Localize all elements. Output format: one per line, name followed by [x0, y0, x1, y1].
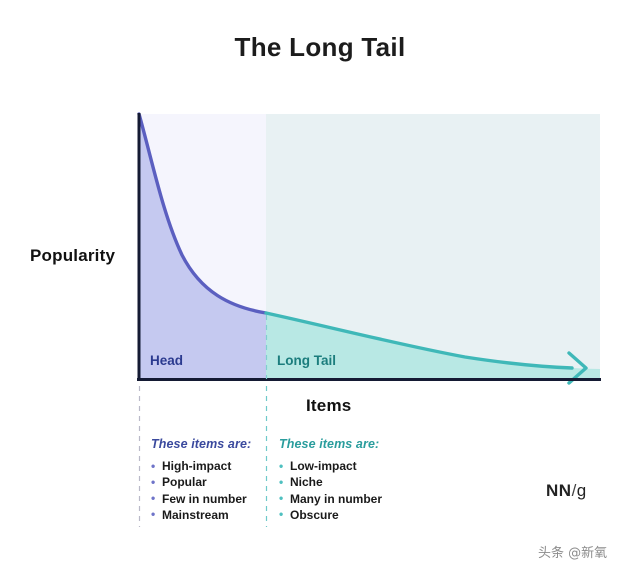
nng-logo: NN/g	[546, 481, 587, 501]
list-item: Mainstream	[151, 507, 266, 523]
legend-head-column: These items are: High-impact Popular Few…	[151, 437, 266, 523]
nng-logo-nn: NN	[546, 481, 572, 500]
legend-tail-heading: These items are:	[279, 437, 409, 451]
head-region-label: Head	[150, 353, 183, 368]
legend-head-list: High-impact Popular Few in number Mainst…	[151, 458, 266, 523]
chart-canvas: The Long Tail Popularity Items	[0, 0, 640, 575]
list-item: Low-impact	[279, 458, 409, 474]
list-item: Niche	[279, 474, 409, 490]
list-item: Many in number	[279, 491, 409, 507]
legend-tail-list: Low-impact Niche Many in number Obscure	[279, 458, 409, 523]
nng-logo-g: g	[577, 481, 587, 500]
legend-head-heading: These items are:	[151, 437, 266, 451]
watermark: 头条 @新氧	[538, 542, 607, 561]
long-tail-region-label: Long Tail	[277, 353, 336, 368]
list-item: High-impact	[151, 458, 266, 474]
list-item: Few in number	[151, 491, 266, 507]
list-item: Popular	[151, 474, 266, 490]
list-item: Obscure	[279, 507, 409, 523]
legend-tail-column: These items are: Low-impact Niche Many i…	[279, 437, 409, 523]
